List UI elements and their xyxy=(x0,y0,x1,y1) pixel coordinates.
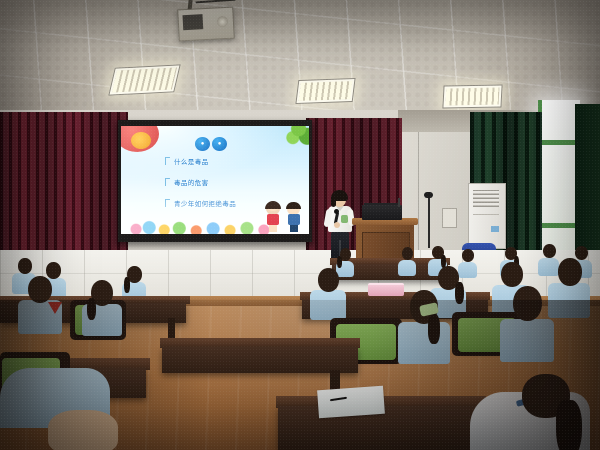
podium-microphone-icon xyxy=(398,198,400,207)
screen-glare xyxy=(121,126,309,234)
window-frame-bar-top xyxy=(540,140,580,145)
microphone-stand xyxy=(428,196,430,248)
room-ambient-shading xyxy=(0,300,600,450)
wall-seam xyxy=(418,112,419,262)
window-frame-bar-bottom xyxy=(540,223,580,228)
air-conditioner xyxy=(468,183,506,249)
ceiling-light-panel-right xyxy=(442,84,502,108)
ceiling-light-panel-left xyxy=(108,64,180,95)
ceiling-light-panel-center xyxy=(295,78,355,104)
wall-control-box xyxy=(442,208,457,228)
microphone-icon xyxy=(424,192,433,198)
student xyxy=(398,247,416,275)
classroom-photo: ● ● 什么是毒品 毒品的危害 青少年如何拒绝毒品 xyxy=(0,0,600,450)
projector-icon xyxy=(177,7,235,42)
laptop-icon xyxy=(362,205,402,220)
